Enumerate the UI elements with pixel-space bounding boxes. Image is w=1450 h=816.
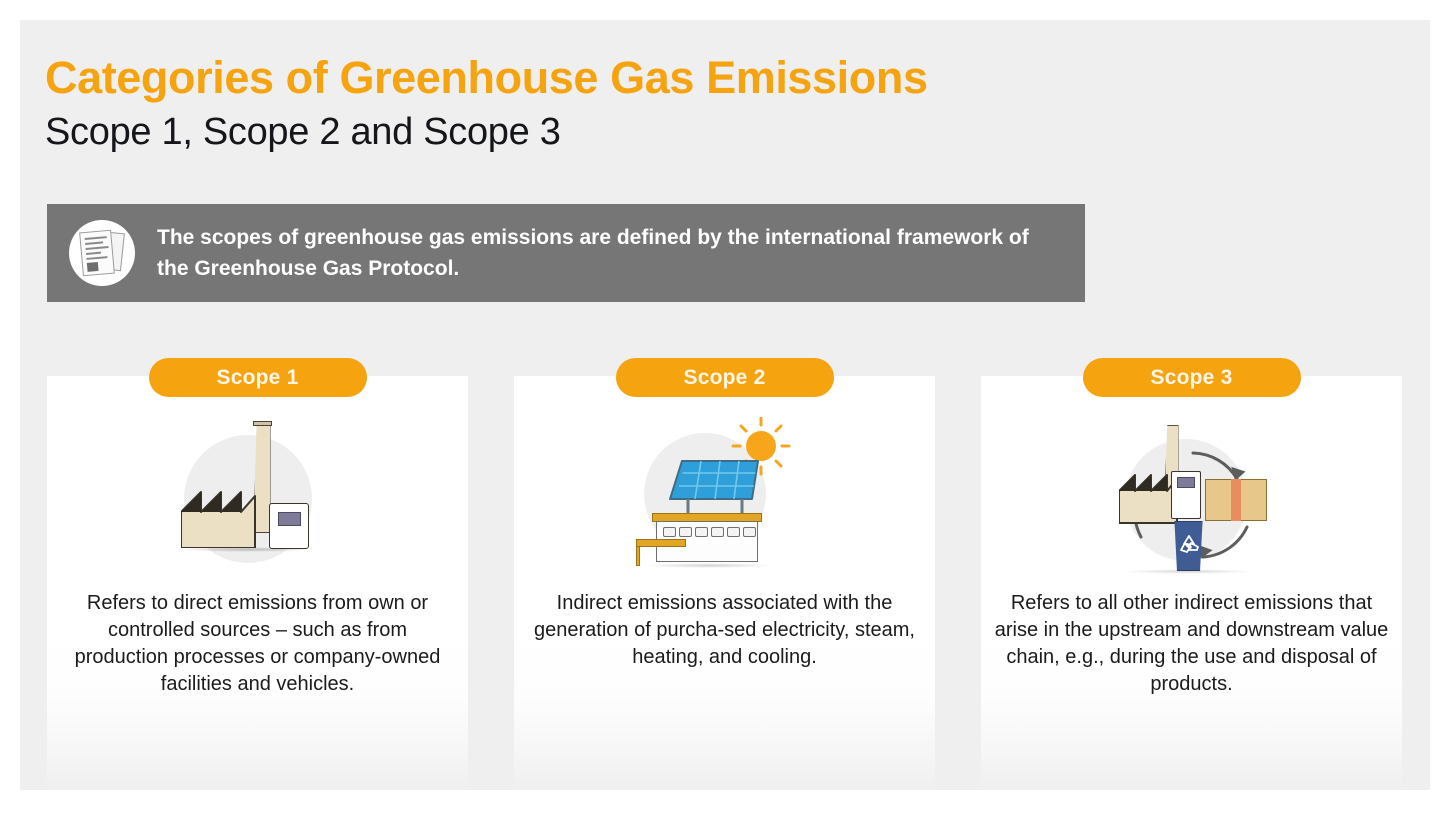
factory-tower-icon xyxy=(269,503,309,549)
building-window xyxy=(743,527,756,537)
building-window xyxy=(727,527,740,537)
scope-2-description: Indirect emissions associated with the g… xyxy=(526,590,923,671)
factory-window-icon xyxy=(278,512,301,526)
scope-3-icon-area xyxy=(981,416,1402,578)
slide-canvas: Categories of Greenhouse Gas Emissions S… xyxy=(20,20,1430,790)
building-window xyxy=(695,527,708,537)
building-window xyxy=(711,527,724,537)
factory-window-icon xyxy=(1177,477,1195,488)
scope-3-pill[interactable]: Scope 3 xyxy=(1083,358,1301,397)
page-subtitle: Scope 1, Scope 2 and Scope 3 xyxy=(45,111,561,154)
scope-card-1[interactable]: Scope 1 Refers to direct emissions from … xyxy=(47,376,468,790)
building-canopy xyxy=(636,539,686,547)
factory-chimney-cap xyxy=(253,421,272,426)
document-pages-icon xyxy=(69,220,135,286)
scope-1-pill[interactable]: Scope 1 xyxy=(149,358,367,397)
info-banner: The scopes of greenhouse gas emissions a… xyxy=(47,204,1085,302)
scope-3-description: Refers to all other indirect emissions t… xyxy=(993,590,1390,698)
building-window xyxy=(679,527,692,537)
info-banner-text: The scopes of greenhouse gas emissions a… xyxy=(157,222,1057,284)
scope-card-row: Scope 1 Refers to direct emissions from … xyxy=(20,350,1430,790)
document-front-page xyxy=(79,230,115,277)
building-canopy-leg xyxy=(636,546,640,566)
scope-2-icon-area xyxy=(514,416,935,578)
scope-2-pill[interactable]: Scope 2 xyxy=(616,358,834,397)
scope-card-2[interactable]: Scope 2 xyxy=(514,376,935,790)
factory-sawtooth-icon xyxy=(181,490,271,548)
scope-1-description: Refers to direct emissions from own or c… xyxy=(59,590,456,698)
page-title: Categories of Greenhouse Gas Emissions xyxy=(45,52,928,104)
building-window xyxy=(663,527,676,537)
scope-card-3[interactable]: Scope 3 xyxy=(981,376,1402,790)
package-tape xyxy=(1231,479,1241,521)
scope-1-icon-area xyxy=(47,416,468,578)
recycle-symbol-icon xyxy=(1177,533,1201,557)
